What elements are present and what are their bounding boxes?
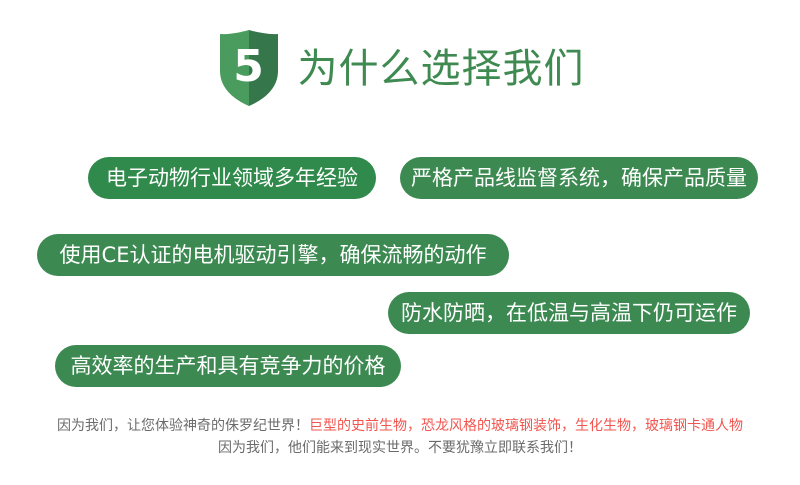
footer-line-1-highlight: 巨型的史前生物，恐龙风格的玻璃钢装饰，生化生物，玻璃钢卡通人物	[309, 418, 743, 434]
page-title: 为什么选择我们	[298, 49, 585, 89]
footer-line-1-prefix: 因为我们，让您体验神奇的侏罗纪世界！	[57, 418, 309, 434]
feature-pill-1: 电子动物行业领域多年经验	[88, 157, 376, 199]
footer-line-2: 因为我们，他们能来到现实世界。不要犹豫立即联系我们！	[0, 437, 800, 459]
feature-pill-3: 使用CE认证的电机驱动引擎，确保流畅的动作	[37, 234, 509, 276]
feature-pill-2: 严格产品线监督系统，确保产品质量	[400, 157, 758, 199]
feature-pill-4: 防水防晒，在低温与高温下仍可运作	[388, 292, 750, 334]
footer-line-1: 因为我们，让您体验神奇的侏罗纪世界！巨型的史前生物，恐龙风格的玻璃钢装饰，生化生…	[0, 415, 800, 437]
feature-pill-5: 高效率的生产和具有竞争力的价格	[55, 345, 401, 387]
footer-text: 因为我们，让您体验神奇的侏罗纪世界！巨型的史前生物，恐龙风格的玻璃钢装饰，生化生…	[0, 415, 800, 459]
shield-badge: 5	[216, 29, 282, 109]
shield-number: 5	[216, 29, 282, 105]
page-header: 5 为什么选择我们	[0, 26, 800, 112]
